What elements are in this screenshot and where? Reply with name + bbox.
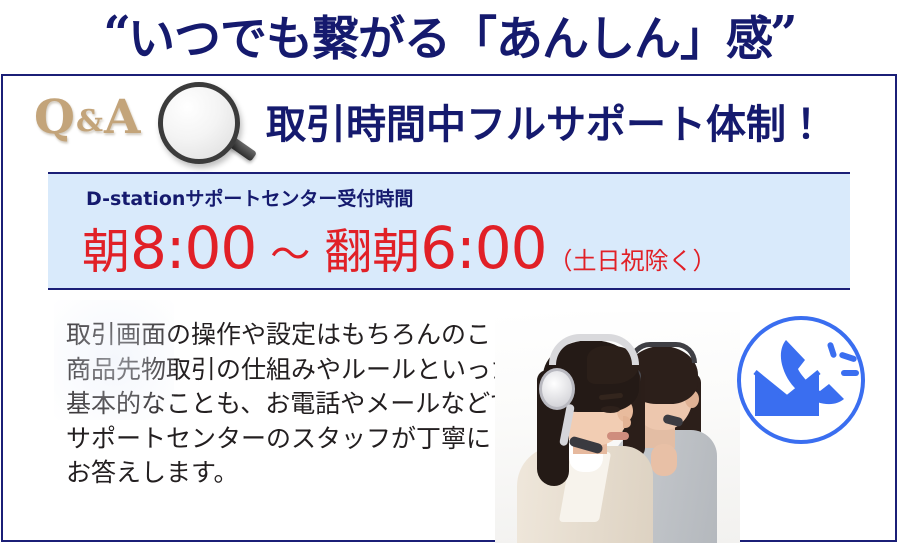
page-title: “ いつでも繋がる「あんしん」感 ” bbox=[0, 0, 900, 70]
hours-exception-note: （土日祝除く） bbox=[549, 241, 717, 276]
magnifying-glass-icon bbox=[150, 80, 260, 168]
operators-photo bbox=[495, 312, 740, 543]
description-line: お答えします。 bbox=[66, 456, 536, 491]
description-line: 基本的なことも、お電話やメールなどで bbox=[66, 387, 536, 422]
description-line: 取引画面の操作や設定はもちろんのこと、 bbox=[66, 318, 536, 353]
hours-start-time: 8:00 bbox=[130, 214, 256, 282]
qa-section-title: 取引時間中フルサポート体制！ bbox=[266, 92, 826, 150]
icon-glyphs bbox=[737, 316, 865, 444]
qa-wooden-letters: Q&A bbox=[34, 90, 142, 145]
qa-ampersand: & bbox=[76, 104, 104, 139]
headline-text: いつでも繋がる「あんしん」感 bbox=[128, 0, 772, 69]
description-line: サポートセンターのスタッフが丁寧に bbox=[66, 422, 536, 457]
phone-and-mail-icon bbox=[737, 316, 865, 444]
hours-start-prefix: 朝 bbox=[82, 212, 130, 282]
hours-end-time: 6:00 bbox=[420, 214, 546, 282]
support-hours-label: D-stationサポートセンター受付時間 bbox=[86, 184, 413, 211]
support-hours-panel: D-stationサポートセンター受付時間 朝 8:00 〜 翻朝 6:00 （… bbox=[48, 172, 850, 290]
hours-end-prefix: 翻朝 bbox=[324, 212, 420, 282]
open-quote: “ bbox=[103, 10, 130, 58]
qa-letter-a: A bbox=[104, 90, 141, 145]
qa-letter-q: Q bbox=[34, 90, 76, 145]
ring-line-1 bbox=[827, 341, 838, 358]
support-hours-value: 朝 8:00 〜 翻朝 6:00 （土日祝除く） bbox=[82, 212, 717, 282]
qa-header-row: Q&A 取引時間中フルサポート体制！ bbox=[0, 76, 896, 168]
support-banner: “ いつでも繋がる「あんしん」感 ” Q&A 取引時間中フルサポート体制！ D-… bbox=[0, 0, 900, 545]
close-quote: ” bbox=[770, 10, 797, 58]
hours-separator: 〜 bbox=[270, 222, 310, 280]
magnifier-lens bbox=[158, 82, 240, 164]
ring-line-3 bbox=[841, 370, 859, 376]
description-text: 取引画面の操作や設定はもちろんのこと、 商品先物取引の仕組みやルールといった 基… bbox=[66, 318, 536, 491]
description-line: 商品先物取引の仕組みやルールといった bbox=[66, 353, 536, 388]
ring-line-2 bbox=[839, 351, 858, 362]
